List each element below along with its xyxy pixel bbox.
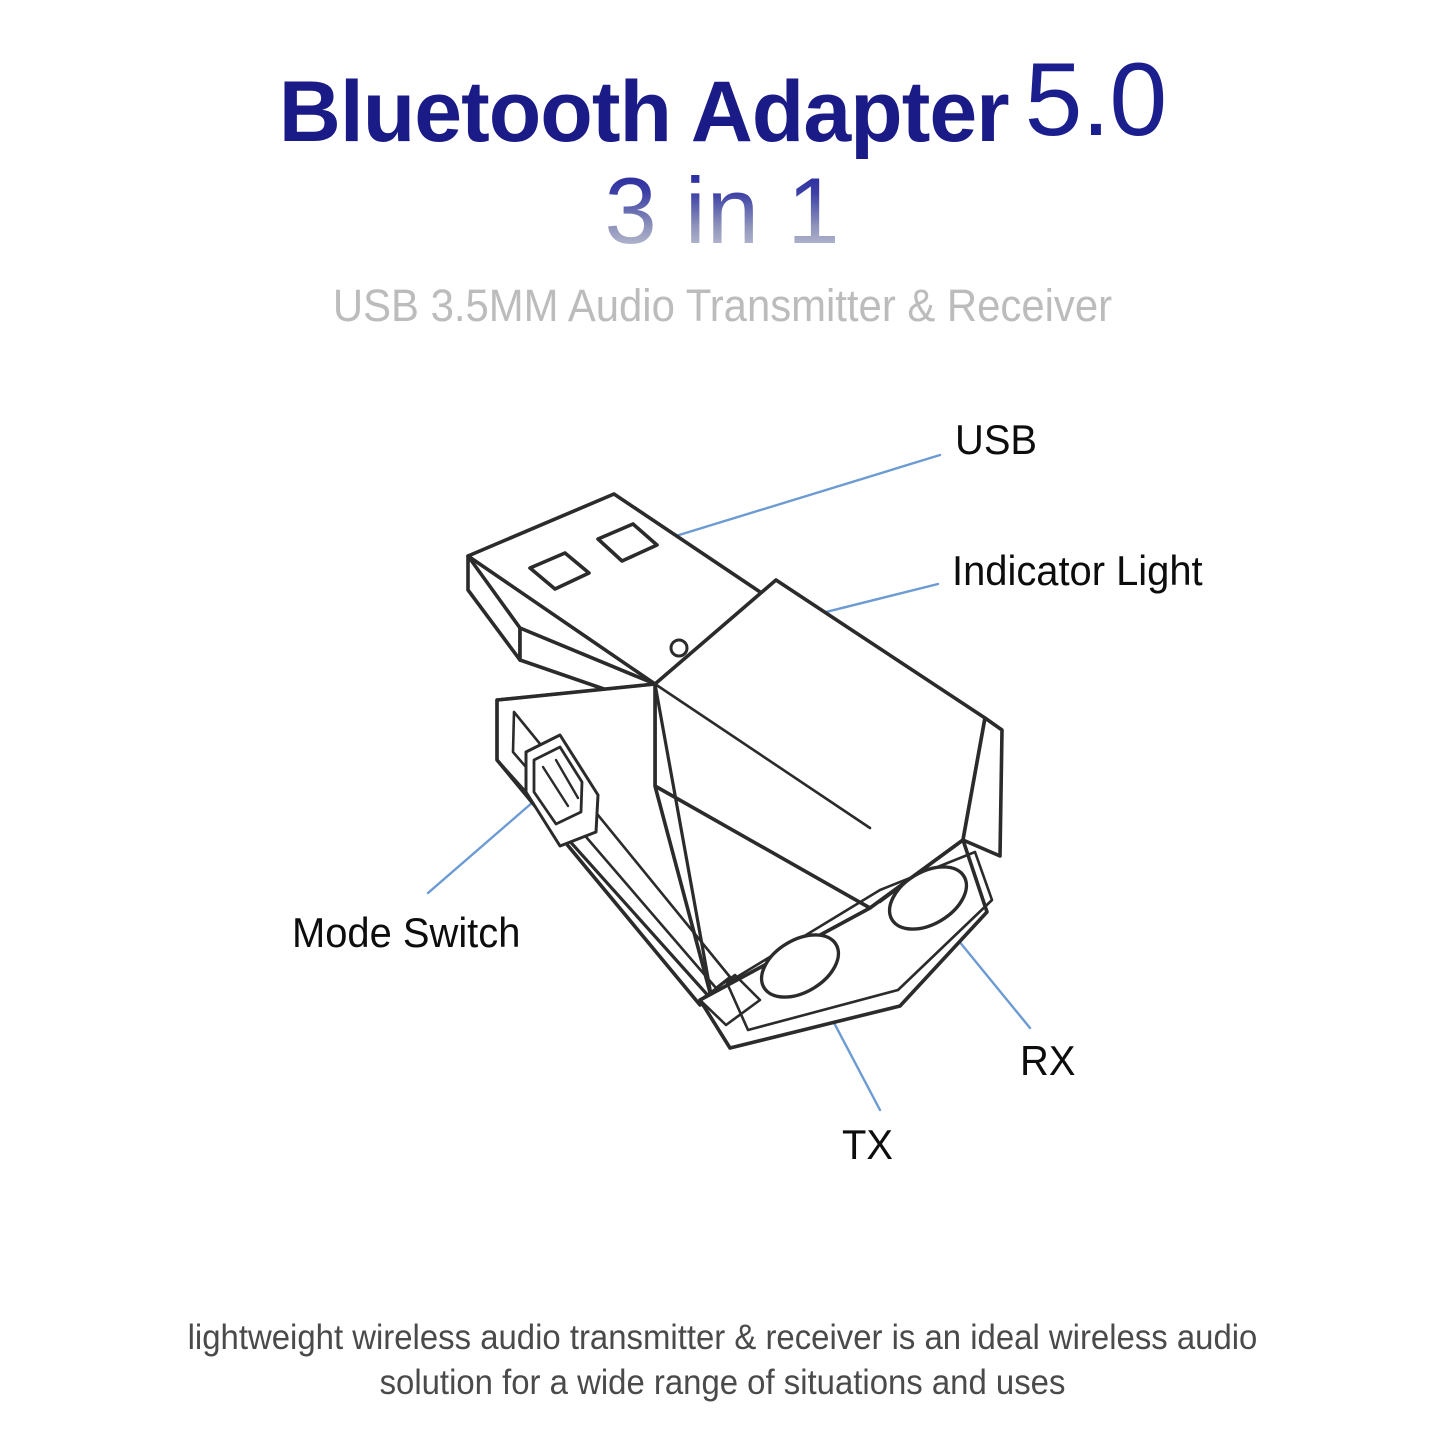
- leader-line-usb: [627, 455, 940, 551]
- callout-label-usb: USB: [955, 419, 1037, 461]
- housing-top-seam-a: [655, 684, 870, 828]
- callout-label-rx: RX: [1020, 1040, 1075, 1082]
- housing-end-face: [700, 840, 987, 1048]
- footer-line-1: lightweight wireless audio transmitter &…: [43, 1316, 1401, 1361]
- tx-jack-port: [751, 922, 850, 1010]
- callout-label-tx: TX: [842, 1124, 893, 1166]
- housing-left-bevel: [513, 712, 730, 988]
- housing-left-outer: [497, 684, 712, 1000]
- housing-right-face: [963, 718, 1002, 856]
- title-version-text: 5.0: [1025, 42, 1167, 158]
- housing-top-face: [655, 580, 985, 908]
- footer-description: lightweight wireless audio transmitter &…: [43, 1316, 1401, 1406]
- title-main-text: Bluetooth Adapter: [279, 64, 1009, 160]
- product-infographic: Bluetooth Adapter5.0 3 in 1 USB 3.5MM Au…: [0, 0, 1445, 1445]
- leader-line-rx: [927, 902, 1030, 1028]
- usb-cutout-right: [598, 524, 657, 561]
- callout-label-mode-switch: Mode Switch: [292, 912, 520, 954]
- housing-end-recess: [727, 852, 992, 1030]
- usb-connector-top-face: [468, 494, 790, 684]
- page-title: Bluetooth Adapter5.0: [0, 54, 1445, 158]
- title-3in1: 3 in 1: [0, 164, 1445, 258]
- mode-switch-housing: [526, 735, 598, 846]
- leader-line-indicator: [682, 584, 938, 648]
- housing-right-seam: [880, 840, 963, 902]
- callout-label-indicator-light: Indicator Light: [952, 550, 1203, 592]
- leader-line-tx: [803, 964, 880, 1110]
- device-body-outline: [468, 494, 1002, 1048]
- housing-corner-notch: [700, 975, 760, 1025]
- usb-cutout-left: [530, 553, 589, 589]
- leader-line-mode-switch: [428, 789, 548, 893]
- rx-jack-port: [879, 854, 978, 942]
- leader-lines: [428, 455, 1030, 1110]
- subtitle: USB 3.5MM Audio Transmitter & Receiver: [51, 280, 1395, 332]
- mode-switch-knob: [534, 747, 582, 824]
- usb-connector-bottom-face: [520, 628, 688, 718]
- footer-line-2: solution for a wide range of situations …: [43, 1361, 1401, 1406]
- mode-switch-groove-1: [543, 767, 568, 806]
- usb-connector-left-face: [468, 556, 520, 660]
- mode-switch-groove-2: [556, 760, 578, 798]
- housing-left-face: [497, 684, 712, 1005]
- indicator-light-dot: [671, 640, 687, 656]
